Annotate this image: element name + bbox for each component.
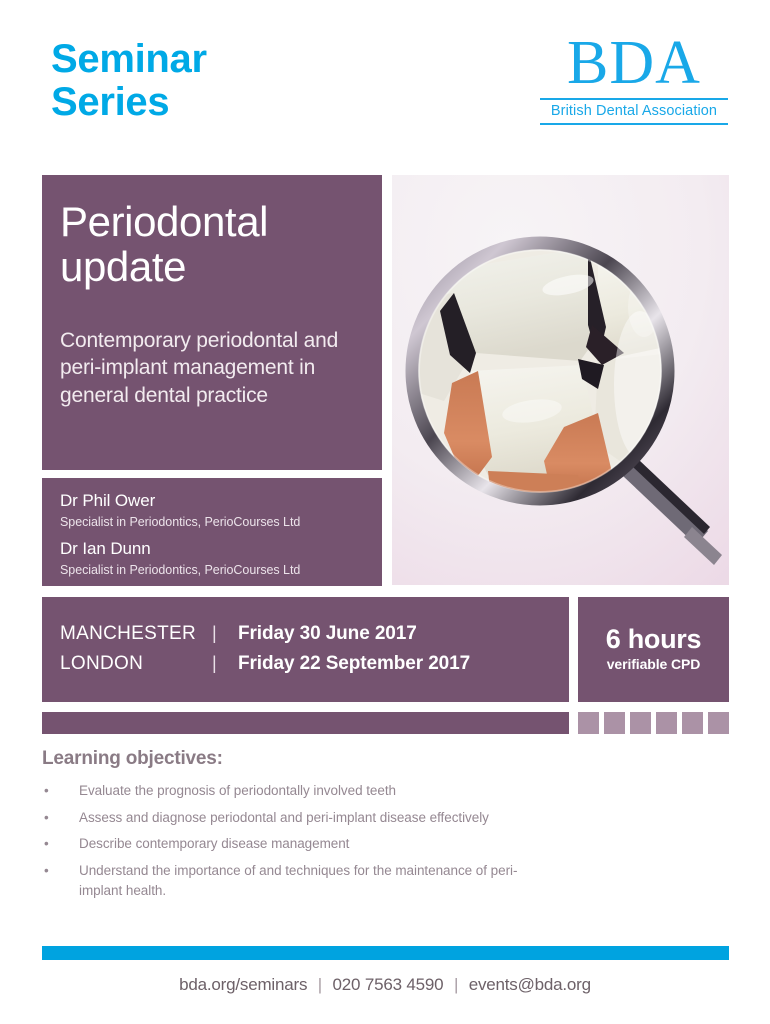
date-value: Friday 22 September 2017 xyxy=(238,653,470,675)
date-row: LONDON | Friday 22 September 2017 xyxy=(60,653,569,675)
list-item: • Understand the importance of and techn… xyxy=(42,861,531,902)
footer-accent-bar xyxy=(42,946,729,960)
learning-objectives-heading: Learning objectives: xyxy=(42,748,642,770)
speakers-block: Dr Phil Ower Specialist in Periodontics,… xyxy=(42,478,382,586)
bda-logo-rule-bottom xyxy=(540,123,728,125)
list-item: • Describe contemporary disease manageme… xyxy=(42,834,642,855)
decorative-square xyxy=(656,712,677,734)
bullet-icon: • xyxy=(44,781,49,802)
bda-logo: BDA British Dental Association xyxy=(540,34,728,125)
date-city: LONDON xyxy=(60,653,212,675)
bda-logo-mark: BDA xyxy=(540,34,728,93)
list-item-text: Assess and diagnose periodontal and peri… xyxy=(79,810,489,825)
list-item: • Evaluate the prognosis of periodontall… xyxy=(42,781,642,802)
list-item-text: Describe contemporary disease management xyxy=(79,836,349,851)
date-separator: | xyxy=(212,623,238,644)
list-item-text: Understand the importance of and techniq… xyxy=(79,863,517,899)
decorative-bar xyxy=(42,712,569,734)
course-title-block: Periodontal update Contemporary periodon… xyxy=(42,175,382,470)
magnifying-glass-teeth-illustration xyxy=(392,175,729,585)
footer-separator: | xyxy=(312,975,328,994)
date-value: Friday 30 June 2017 xyxy=(238,623,417,645)
cpd-label: verifiable CPD xyxy=(578,656,729,672)
learning-objectives-section: Learning objectives: • Evaluate the prog… xyxy=(42,748,642,908)
decorative-squares xyxy=(578,712,729,734)
decorative-square xyxy=(578,712,599,734)
course-title-line2: update xyxy=(60,243,186,290)
bullet-icon: • xyxy=(44,834,49,855)
footer-email[interactable]: events@bda.org xyxy=(469,975,591,994)
footer-phone[interactable]: 020 7563 4590 xyxy=(333,975,444,994)
bullet-icon: • xyxy=(44,808,49,829)
speaker-entry: Dr Phil Ower Specialist in Periodontics,… xyxy=(60,490,364,531)
speaker-entry: Dr Ian Dunn Specialist in Periodontics, … xyxy=(60,538,364,579)
list-item-text: Evaluate the prognosis of periodontally … xyxy=(79,783,396,798)
cpd-hours: 6 hours xyxy=(578,625,729,655)
bullet-icon: • xyxy=(44,861,49,882)
decorative-square xyxy=(630,712,651,734)
course-title-line1: Periodontal xyxy=(60,198,268,245)
page-header: Seminar Series BDA British Dental Associ… xyxy=(0,0,770,168)
tooth-magnifier-photo xyxy=(392,175,729,585)
speaker-name: Dr Ian Dunn xyxy=(60,538,364,561)
dates-block: MANCHESTER | Friday 30 June 2017 LONDON … xyxy=(42,597,569,702)
footer-separator: | xyxy=(448,975,464,994)
bda-logo-subtitle: British Dental Association xyxy=(540,103,728,123)
date-separator: | xyxy=(212,653,238,674)
cpd-badge: 6 hours verifiable CPD xyxy=(578,597,729,702)
date-city: MANCHESTER xyxy=(60,623,212,645)
seminar-title-line2: Series xyxy=(51,81,207,124)
speaker-role: Specialist in Periodontics, PerioCourses… xyxy=(60,561,364,579)
decorative-square xyxy=(604,712,625,734)
bda-logo-rule-top xyxy=(540,98,728,100)
list-item: • Assess and diagnose periodontal and pe… xyxy=(42,808,642,829)
seminar-series-title: Seminar Series xyxy=(51,38,207,124)
date-row: MANCHESTER | Friday 30 June 2017 xyxy=(60,623,569,645)
decorative-square xyxy=(682,712,703,734)
course-title: Periodontal update xyxy=(60,199,356,290)
learning-objectives-list: • Evaluate the prognosis of periodontall… xyxy=(42,781,642,902)
speaker-role: Specialist in Periodontics, PerioCourses… xyxy=(60,513,364,531)
decorative-square xyxy=(708,712,729,734)
seminar-title-line1: Seminar xyxy=(51,37,207,81)
footer-website[interactable]: bda.org/seminars xyxy=(179,975,307,994)
speaker-name: Dr Phil Ower xyxy=(60,490,364,513)
footer-contact: bda.org/seminars | 020 7563 4590 | event… xyxy=(0,975,770,995)
course-subtitle: Contemporary periodontal and peri-implan… xyxy=(60,327,356,410)
